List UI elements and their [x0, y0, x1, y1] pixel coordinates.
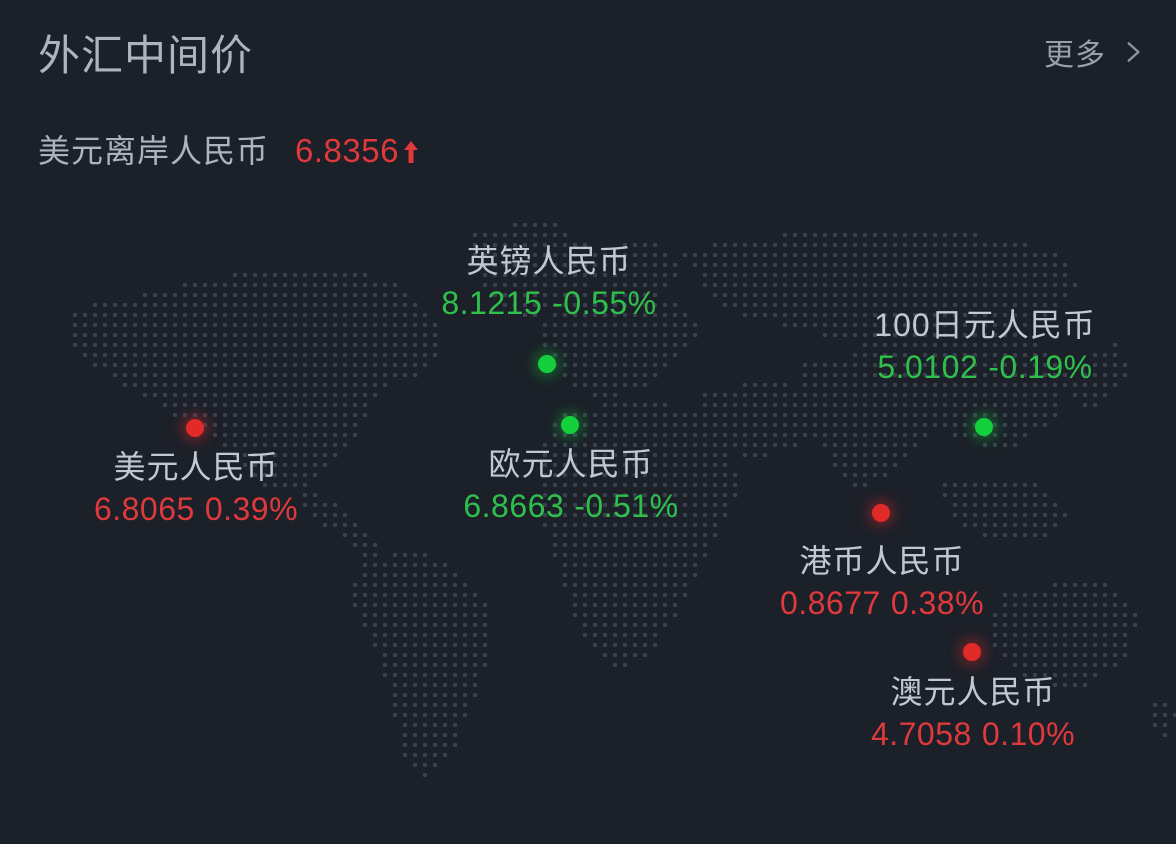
map-marker-hkd[interactable]: [872, 504, 890, 522]
quote-name: 欧元人民币: [463, 446, 678, 484]
quote-percent: 0.10%: [982, 716, 1075, 752]
quote-rate: 5.0102: [877, 349, 978, 385]
quote-percent: -0.55%: [552, 285, 656, 321]
more-label: 更多: [1044, 30, 1106, 74]
quote-values: 8.1215-0.55%: [441, 285, 656, 323]
quote-rate: 8.1215: [441, 285, 542, 321]
map-marker-gbp[interactable]: [538, 355, 556, 373]
quote-percent: 0.39%: [205, 491, 298, 527]
quote-usd[interactable]: 美元人民币6.80650.39%: [94, 449, 298, 529]
quote-hkd[interactable]: 港币人民币0.86770.38%: [780, 543, 984, 623]
page-title: 外汇中间价: [38, 22, 253, 83]
world-map: 英镑人民币8.1215-0.55%100日元人民币5.0102-0.19%美元人…: [0, 190, 1176, 790]
quote-name: 美元人民币: [94, 449, 298, 487]
quote-gbp[interactable]: 英镑人民币8.1215-0.55%: [441, 243, 656, 323]
arrow-up-icon: [403, 134, 419, 158]
summary-row[interactable]: 美元离岸人民币 6.8356: [38, 126, 419, 172]
summary-value-group: 6.8356: [295, 132, 419, 170]
quote-percent: 0.38%: [891, 585, 984, 621]
quote-values: 0.86770.38%: [780, 585, 984, 623]
map-marker-jpy100[interactable]: [975, 418, 993, 436]
quote-values: 5.0102-0.19%: [874, 349, 1095, 387]
quote-rate: 0.8677: [780, 585, 881, 621]
summary-currency-label: 美元离岸人民币: [38, 126, 269, 172]
map-marker-eur[interactable]: [561, 416, 579, 434]
quote-aud[interactable]: 澳元人民币4.70580.10%: [871, 674, 1075, 754]
quote-values: 6.8663-0.51%: [463, 488, 678, 526]
map-marker-aud[interactable]: [963, 643, 981, 661]
quote-rate: 6.8663: [463, 488, 564, 524]
quote-values: 4.70580.10%: [871, 716, 1075, 754]
quote-name: 英镑人民币: [441, 243, 656, 281]
panel-header: 外汇中间价 更多: [0, 0, 1176, 110]
quote-percent: -0.19%: [988, 349, 1092, 385]
summary-value: 6.8356: [295, 132, 399, 170]
quote-eur[interactable]: 欧元人民币6.8663-0.51%: [463, 446, 678, 526]
quote-rate: 6.8065: [94, 491, 195, 527]
map-marker-usd[interactable]: [186, 419, 204, 437]
quote-name: 澳元人民币: [871, 674, 1075, 712]
forex-panel: 外汇中间价 更多 美元离岸人民币 6.8356 英镑人民币8: [0, 0, 1176, 844]
more-link[interactable]: 更多: [1044, 30, 1146, 74]
quote-jpy100[interactable]: 100日元人民币5.0102-0.19%: [874, 307, 1095, 387]
chevron-right-icon: [1120, 39, 1146, 65]
quote-percent: -0.51%: [574, 488, 678, 524]
quote-rate: 4.7058: [871, 716, 972, 752]
quote-name: 100日元人民币: [874, 307, 1095, 345]
quote-name: 港币人民币: [780, 543, 984, 581]
quote-values: 6.80650.39%: [94, 491, 298, 529]
